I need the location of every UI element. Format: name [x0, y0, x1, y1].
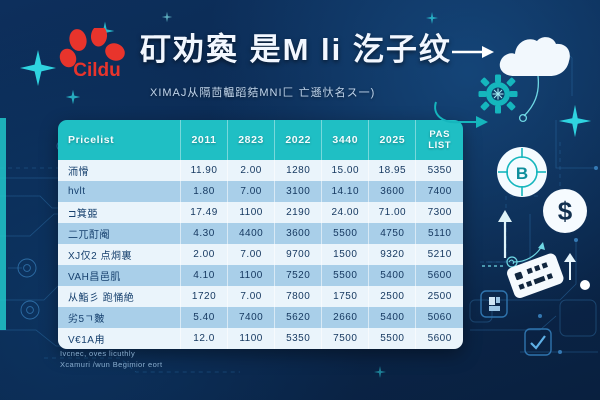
- table-cell: 5500: [322, 265, 369, 286]
- table-cell: 3100: [275, 181, 322, 202]
- table-cell: 2500: [369, 286, 416, 307]
- table-cell: 3600: [275, 223, 322, 244]
- dollar-coin-icon: $: [540, 186, 590, 236]
- document-icon: [480, 290, 508, 318]
- table-cell: 71.00: [369, 202, 416, 223]
- table-cell: 7400: [228, 307, 275, 328]
- check-icon: [524, 328, 552, 356]
- table-cell: 2.00: [228, 160, 275, 181]
- table-row[interactable]: 劣5ㄱ麬5.4074005620266054005060: [58, 307, 463, 328]
- table-cell: 24.00: [322, 202, 369, 223]
- table-header: Pricelist 2011 2823 2022 3440 2025 PAS L…: [58, 120, 463, 160]
- table-cell: 1100: [228, 265, 275, 286]
- page-title: 矴劝寏 是M li 汔子纹: [140, 28, 460, 72]
- table-cell: 14.10: [322, 181, 369, 202]
- table-cell: 1500: [322, 244, 369, 265]
- table-cell: 9700: [275, 244, 322, 265]
- bitcoin-glyph: B: [516, 164, 528, 183]
- row-label: 二兀酊阉: [58, 223, 181, 244]
- infographic-canvas: Cildu 矴劝寏 是M li 汔子纹 XIMAJ从隔茴輼蹈夡MNI匚 亡遜忕名…: [0, 0, 600, 400]
- table-cell: 17.49: [181, 202, 228, 223]
- table-cell: 5400: [369, 307, 416, 328]
- row-label: hvlt: [58, 181, 181, 202]
- table-cell: 7500: [322, 328, 369, 349]
- logo-wordmark: Cildu: [73, 60, 121, 80]
- table-cell: 11.90: [181, 160, 228, 181]
- table-row[interactable]: 从鮨彡 跑悀絶17207.007800175025002500: [58, 286, 463, 307]
- table-cell: 1720: [181, 286, 228, 307]
- row-label: 从鮨彡 跑悀絶: [58, 286, 181, 307]
- page-subtitle: XIMAJ从隔茴輼蹈夡MNI匚 亡遜忕名ス一): [150, 84, 450, 100]
- table-cell: 5210: [416, 244, 463, 265]
- row-label: 洏愲: [58, 160, 181, 181]
- column-header-2011[interactable]: 2011: [181, 120, 228, 160]
- table-cell: 4750: [369, 223, 416, 244]
- table-cell: 2660: [322, 307, 369, 328]
- table-row[interactable]: hvlt1.807.00310014.1036007400: [58, 181, 463, 202]
- table-cell: 5400: [369, 265, 416, 286]
- table-cell: 4.30: [181, 223, 228, 244]
- column-header-2823[interactable]: 2823: [228, 120, 275, 160]
- table-cell: 4400: [228, 223, 275, 244]
- table-cell: 1280: [275, 160, 322, 181]
- table-header-row: Pricelist 2011 2823 2022 3440 2025 PAS L…: [58, 120, 463, 160]
- table-cell: 7300: [416, 202, 463, 223]
- table-cell: 7.00: [228, 244, 275, 265]
- sparkle-icon: [372, 364, 388, 380]
- table-cell: 4.10: [181, 265, 228, 286]
- dollar-glyph: $: [558, 196, 573, 226]
- column-header-pas-line1: PAS: [429, 129, 450, 140]
- table-cell: 5.40: [181, 307, 228, 328]
- footnote-line-1: Ivcnec, oves licuthly: [60, 348, 350, 359]
- table-cell: 5350: [275, 328, 322, 349]
- table-cell: 5600: [416, 265, 463, 286]
- column-header-pas-list[interactable]: PAS LIST: [416, 120, 463, 160]
- arrow-up-icon: [562, 252, 578, 282]
- table-cell: 2190: [275, 202, 322, 223]
- table-cell: 5110: [416, 223, 463, 244]
- table-cell: 5060: [416, 307, 463, 328]
- table-row[interactable]: VAH昌邑肌4.1011007520550054005600: [58, 265, 463, 286]
- footnote-line-2: Xcamuri /wun Begimior eort: [60, 359, 350, 370]
- column-header-pricelist[interactable]: Pricelist: [58, 120, 181, 160]
- table-cell: 18.95: [369, 160, 416, 181]
- table-cell: 5350: [416, 160, 463, 181]
- table-cell: 1.80: [181, 181, 228, 202]
- row-label: 劣5ㄱ麬: [58, 307, 181, 328]
- table-cell: 12.0: [181, 328, 228, 349]
- table-cell: 7.00: [228, 181, 275, 202]
- row-label: V€1A甪: [58, 328, 181, 349]
- bitcoin-coin-icon: B: [494, 144, 550, 200]
- table-row[interactable]: XJ仅2 点烔裏2.007.009700150093205210: [58, 244, 463, 265]
- row-label: VAH昌邑肌: [58, 265, 181, 286]
- table-row[interactable]: 洏愲11.902.00128015.0018.955350: [58, 160, 463, 181]
- table-cell: 2500: [416, 286, 463, 307]
- column-header-pas-line2: LIST: [428, 140, 451, 151]
- table-cell: 1750: [322, 286, 369, 307]
- connector-node-icon: [578, 278, 592, 292]
- row-label: XJ仅2 点烔裏: [58, 244, 181, 265]
- table-cell: 7520: [275, 265, 322, 286]
- table-cell: 5620: [275, 307, 322, 328]
- table-body: 洏愲11.902.00128015.0018.955350hvlt1.807.0…: [58, 160, 463, 349]
- pricelist-table-container: Pricelist 2011 2823 2022 3440 2025 PAS L…: [58, 120, 463, 349]
- price-tag-card-icon: [500, 250, 570, 306]
- column-header-2025[interactable]: 2025: [369, 120, 416, 160]
- table-cell: 5500: [322, 223, 369, 244]
- table-cell: 9320: [369, 244, 416, 265]
- column-header-3440[interactable]: 3440: [322, 120, 369, 160]
- table-cell: 1100: [228, 202, 275, 223]
- flow-arrow-diagram: [480, 200, 570, 270]
- table-cell: 7400: [416, 181, 463, 202]
- table-cell: 2.00: [181, 244, 228, 265]
- accent-bar: [0, 118, 6, 330]
- table-row[interactable]: V€1A甪12.011005350750055005600: [58, 328, 463, 349]
- baidu-paw-logo: Cildu: [58, 28, 136, 80]
- column-header-2022[interactable]: 2022: [275, 120, 322, 160]
- table-row[interactable]: ⊐箕臦17.491100219024.0071.007300: [58, 202, 463, 223]
- page-header: Cildu 矴劝寏 是M li 汔子纹 XIMAJ从隔茴輼蹈夡MNI匚 亡遜忕名…: [0, 0, 600, 118]
- table-cell: 7800: [275, 286, 322, 307]
- table-cell: 7.00: [228, 286, 275, 307]
- table-cell: 5600: [416, 328, 463, 349]
- table-cell: 5500: [369, 328, 416, 349]
- pricelist-table: Pricelist 2011 2823 2022 3440 2025 PAS L…: [58, 120, 463, 349]
- table-cell: 1100: [228, 328, 275, 349]
- footnote: Ivcnec, oves licuthly Xcamuri /wun Begim…: [60, 348, 350, 370]
- table-cell: 15.00: [322, 160, 369, 181]
- sparkle-icon: [512, 148, 532, 168]
- row-label: ⊐箕臦: [58, 202, 181, 223]
- table-row[interactable]: 二兀酊阉4.3044003600550047505110: [58, 223, 463, 244]
- table-cell: 3600: [369, 181, 416, 202]
